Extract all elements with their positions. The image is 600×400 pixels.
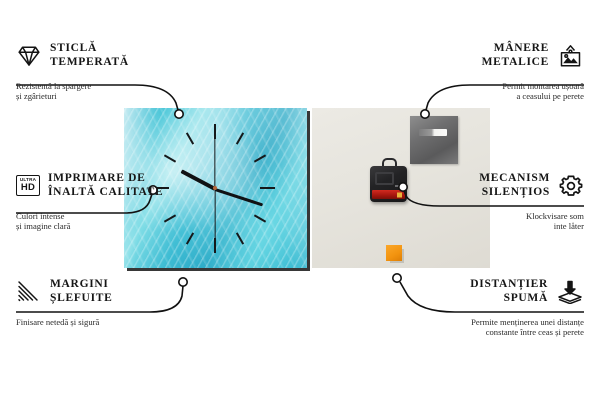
callout-subtitle: Culori intense și imagine clară (16, 199, 201, 232)
callout-tempered-glass: STICLĂ TEMPERATĂ Rezistentă la spargere … (16, 42, 191, 102)
callout-subtitle: Klockvisare som inte låter (394, 199, 584, 232)
hour-marker-11 (186, 132, 194, 144)
callout-title: STICLĂ TEMPERATĂ (50, 42, 129, 69)
second-hand-upper (214, 137, 215, 189)
mechanism-housing-detail (375, 172, 394, 185)
callout-title: MÂNERE METALICE (482, 42, 549, 69)
clock-hub (213, 186, 217, 190)
callout-print-quality: ultra HD IMPRIMARE DE ÎNALTĂ CALITATE Cu… (16, 172, 201, 232)
callout-subtitle: Permite menținerea unei distanțe constan… (369, 305, 584, 338)
callout-title: IMPRIMARE DE ÎNALTĂ CALITATE (48, 172, 163, 199)
minute-hand (214, 188, 263, 207)
feature-infographic: STICLĂ TEMPERATĂ Rezistentă la spargere … (0, 0, 600, 400)
hour-marker-7 (186, 232, 194, 244)
callout-subtitle: Finisare netedă și sigură (16, 305, 201, 327)
hour-marker-2 (254, 154, 266, 162)
callout-polished-edges: MARGINI ȘLEFUITE Finisare netedă și sigu… (16, 278, 201, 327)
hour-marker-10 (164, 154, 176, 162)
ultra-hd-icon-main-text: HD (21, 183, 35, 193)
callout-heading: STICLĂ TEMPERATĂ (16, 42, 191, 69)
hour-marker-3 (260, 187, 275, 189)
callout-title: MECANISM SILENȚIOS (479, 172, 550, 199)
callout-title: DISTANȚIER SPUMĂ (470, 278, 548, 305)
ultra-hd-icon: ultra HD (16, 175, 40, 196)
gear-icon (558, 174, 584, 198)
callout-heading: DISTANȚIER SPUMĂ (369, 278, 584, 305)
hour-marker-5 (236, 232, 244, 244)
second-hand (214, 189, 215, 243)
foam-spacer (386, 245, 402, 261)
callout-metal-hangers: MÂNERE METALICE Permit montarea ușoară a… (394, 42, 584, 102)
callout-silent-mechanism: MECANISM SILENȚIOS Klockvisare som inte … (394, 172, 584, 232)
callout-title: MARGINI ȘLEFUITE (50, 278, 112, 305)
hanger-slot (419, 129, 447, 136)
diamond-icon (16, 44, 42, 67)
polished-edges-icon (16, 280, 42, 303)
picture-hanger-icon (557, 44, 584, 68)
hour-marker-1 (236, 132, 244, 144)
callout-heading: MÂNERE METALICE (394, 42, 584, 69)
callout-subtitle: Rezistentă la spargere și zgârieturi (16, 69, 191, 102)
metal-hanger-plate (410, 116, 458, 164)
callout-heading: ultra HD IMPRIMARE DE ÎNALTĂ CALITATE (16, 172, 201, 199)
foam-spacer-icon (556, 280, 584, 304)
callout-heading: MECANISM SILENȚIOS (394, 172, 584, 199)
hour-marker-4 (254, 214, 266, 222)
callout-subtitle: Permit montarea ușoară a ceasului pe per… (394, 69, 584, 102)
callout-foam-spacer: DISTANȚIER SPUMĂ Permite menținerea unei… (369, 278, 584, 338)
callout-heading: MARGINI ȘLEFUITE (16, 278, 201, 305)
